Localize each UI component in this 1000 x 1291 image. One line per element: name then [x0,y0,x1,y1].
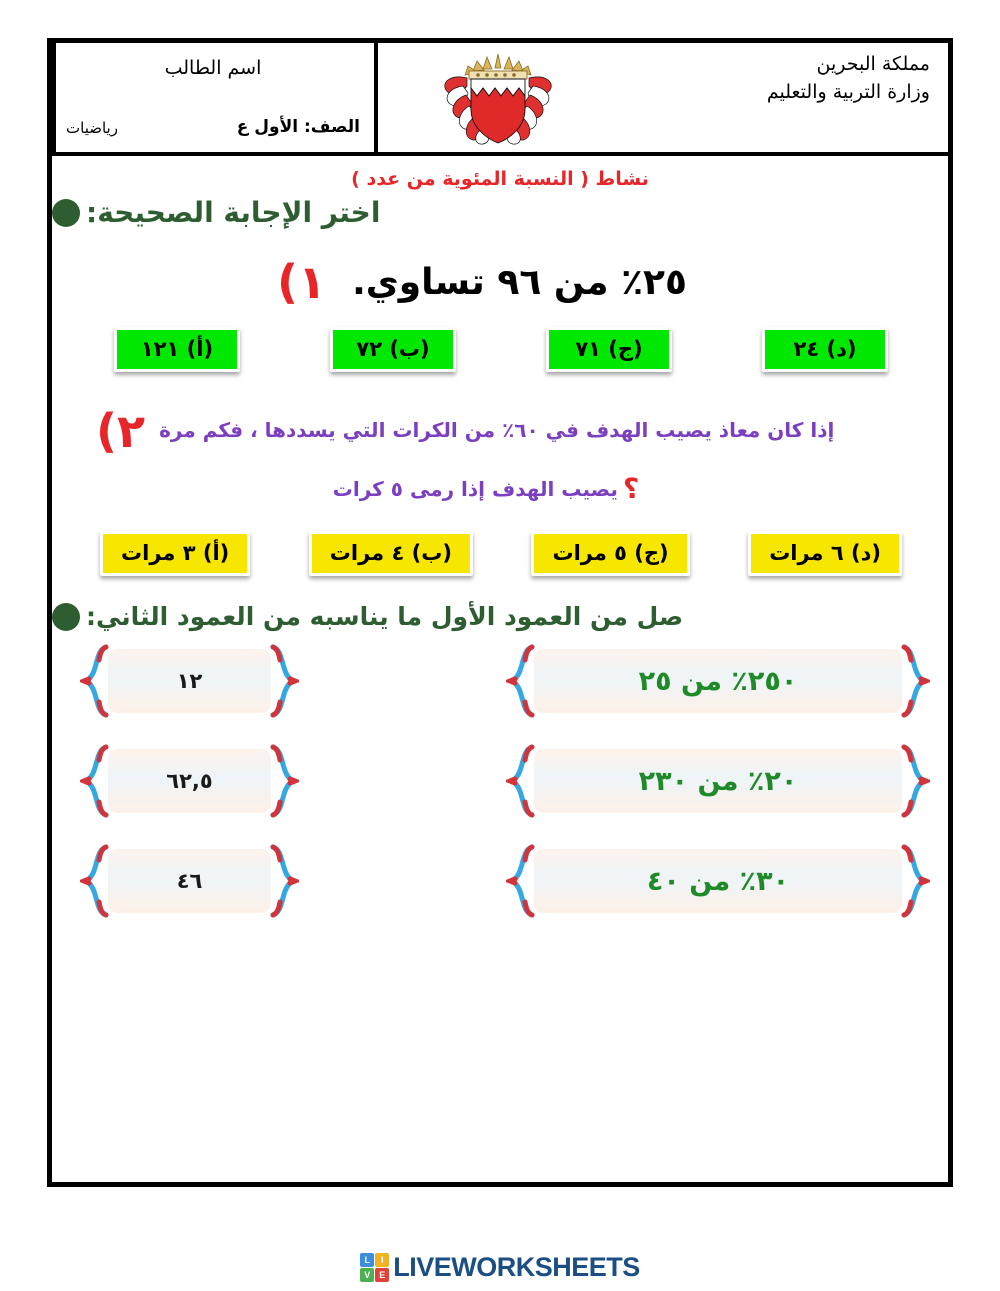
question-2-question-mark: ؟ [623,472,639,505]
bullet-dot-icon [52,603,80,631]
match-right-label-3: ٣٠٪ من ٤٠ [647,866,789,897]
logo-tile-e: E [375,1268,389,1282]
student-name-row: اسم الطالب [66,49,360,83]
brace-right-icon [269,644,299,718]
option-c-q2[interactable]: (ج) ٥ مرات [531,531,689,576]
question-1-number: ١) [277,259,326,305]
matching-column-right: ٢٥٠٪ من ٢٥ ٢٠٪ من ٢٣٠ [508,649,928,913]
option-b-q2[interactable]: (ب) ٤ مرات [309,531,473,576]
match-item-right-2[interactable]: ٢٠٪ من ٢٣٠ [534,749,902,813]
question-2: إذا كان معاذ يصيب الهدف في ٦٠٪ من الكرات… [52,408,948,505]
brace-right-icon [900,744,930,818]
header-table: مملكة البحرين وزارة التربية والتعليم [52,43,948,156]
match-right-label-2: ٢٠٪ من ٢٣٠ [639,766,798,797]
student-name-label: اسم الطالب [165,57,262,79]
liveworksheets-logo[interactable]: L I V E LIVEWORKSHEETS [0,1252,1000,1283]
option-d-q1[interactable]: (د) ٢٤ [762,327,888,372]
section-heading-matching: صل من العمود الأول ما يناسبه من العمود ا… [52,602,948,631]
ministry-country-label: مملكة البحرين [628,51,930,79]
match-left-label-2: ٦٢,٥ [166,769,212,793]
match-item-right-1[interactable]: ٢٥٠٪ من ٢٥ [534,649,902,713]
worksheet-frame: مملكة البحرين وزارة التربية والتعليم [47,38,953,1187]
question-2-text-line-2: يصيب الهدف إذا رمى ٥ كرات [333,477,618,501]
brace-right-icon [900,644,930,718]
question-1-options: (د) ٢٤ (ج) ٧١ (ب) ٧٢ (أ) ١٢١ [52,327,948,372]
match-left-label-1: ١٢ [177,669,203,693]
brace-left-icon [80,644,110,718]
brace-left-icon [506,744,536,818]
option-a-q1[interactable]: (أ) ١٢١ [114,327,240,372]
brace-left-icon [80,844,110,918]
worksheet-body: نشاط ( النسبة المئوية من عدد ) اختر الإج… [52,156,948,1182]
question-2-line-2: ؟ يصيب الهدف إذا رمى ٥ كرات [96,472,904,505]
question-1-text: ٢٥٪ من ٩٦ تساوي. [352,262,687,303]
option-b-q1[interactable]: (ب) ٧٢ [330,327,456,372]
option-a-q2[interactable]: (أ) ٣ مرات [100,531,250,576]
brace-left-icon [80,744,110,818]
grade-label: الصف: الأول ع [237,115,360,140]
section-2-heading-label: صل من العمود الأول ما يناسبه من العمود ا… [86,602,683,631]
header-emblem-cell [374,43,618,152]
question-2-options: (د) ٦ مرات (ج) ٥ مرات (ب) ٤ مرات (أ) ٣ م… [52,531,948,576]
brace-right-icon [269,744,299,818]
matching-column-left: ١٢ ٦٢,٥ [82,649,297,913]
subject-label: رياضيات [66,118,118,140]
brace-right-icon [900,844,930,918]
activity-title: نشاط ( النسبة المئوية من عدد ) [52,168,948,190]
ministry-name-label: وزارة التربية والتعليم [628,79,930,107]
logo-tile-v: V [360,1268,374,1282]
bahrain-coat-of-arms-icon [423,48,573,148]
question-2-line-1: إذا كان معاذ يصيب الهدف في ٦٠٪ من الكرات… [96,408,904,454]
logo-tiles-icon: L I V E [360,1253,389,1282]
logo-tile-i: I [375,1253,389,1267]
option-d-q2[interactable]: (د) ٦ مرات [748,531,902,576]
match-right-label-1: ٢٥٠٪ من ٢٥ [639,666,798,697]
question-2-text-line-1: إذا كان معاذ يصيب الهدف في ٦٠٪ من الكرات… [159,408,834,442]
match-left-label-3: ٤٦ [177,869,203,893]
match-item-left-1[interactable]: ١٢ [108,649,271,713]
match-item-right-3[interactable]: ٣٠٪ من ٤٠ [534,849,902,913]
question-1: ٢٥٪ من ٩٦ تساوي. ١) [52,259,948,305]
option-c-q1[interactable]: (ج) ٧١ [546,327,672,372]
brace-left-icon [506,844,536,918]
header-student-cell: اسم الطالب الصف: الأول ع رياضيات [52,43,374,152]
match-item-left-3[interactable]: ٤٦ [108,849,271,913]
question-2-number: ٢) [96,408,145,454]
match-item-left-2[interactable]: ٦٢,٥ [108,749,271,813]
section-1-heading-label: اختر الإجابة الصحيحة: [86,196,380,229]
matching-area: ٢٥٠٪ من ٢٥ ٢٠٪ من ٢٣٠ [52,649,948,949]
section-heading-choose-answer: اختر الإجابة الصحيحة: [52,196,948,229]
student-meta-row: الصف: الأول ع رياضيات [66,115,360,148]
logo-wordmark: LIVEWORKSHEETS [393,1252,640,1283]
logo-tile-l: L [360,1253,374,1267]
brace-left-icon [506,644,536,718]
brace-right-icon [269,844,299,918]
bullet-dot-icon [52,199,80,227]
header-ministry-cell: مملكة البحرين وزارة التربية والتعليم [618,43,948,152]
